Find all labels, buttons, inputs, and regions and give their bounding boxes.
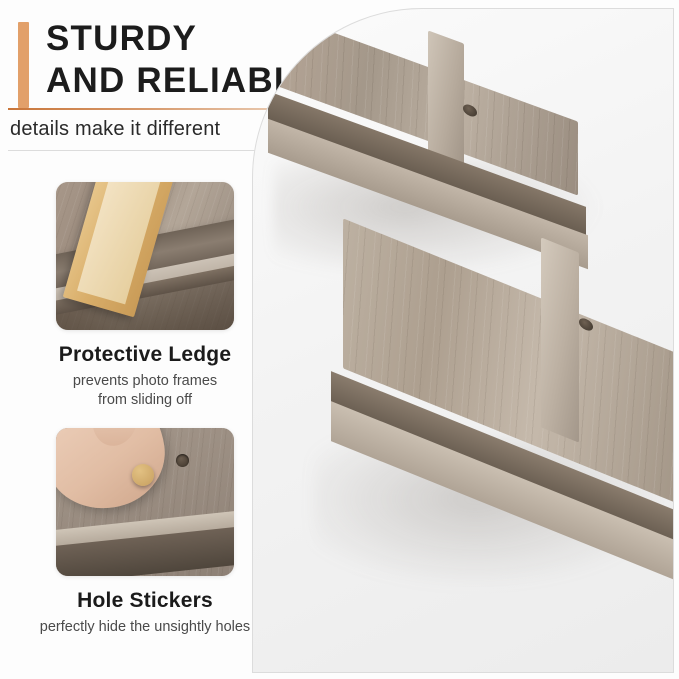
finger: [87, 428, 145, 451]
hole-sticker: [132, 464, 154, 486]
feature-1-subtitle: prevents photo frames from sliding off: [25, 372, 265, 410]
accent-bar: [18, 22, 29, 108]
feature-1-image: [56, 182, 234, 330]
shelf-lower: [313, 257, 674, 657]
feature-2-subtitle-line-1: perfectly hide the unsightly holes: [25, 618, 265, 637]
feature-hole-stickers: Hole Stickers perfectly hide the unsight…: [25, 428, 265, 637]
feature-1-subtitle-line-2: from sliding off: [25, 391, 265, 410]
feature-1-subtitle-line-1: prevents photo frames: [25, 372, 265, 391]
feature-1-title: Protective Ledge: [25, 343, 265, 367]
feature-2-subtitle: perfectly hide the unsightly holes: [25, 618, 265, 637]
screw-hole: [176, 454, 189, 467]
subheading-divider: [8, 150, 258, 151]
hero-scene: [253, 9, 673, 672]
feature-2-title: Hole Stickers: [25, 589, 265, 613]
feature-protective-ledge: Protective Ledge prevents photo frames f…: [25, 182, 265, 410]
feature-2-image: [56, 428, 234, 576]
shelf-lower-ledge: [541, 237, 579, 442]
product-infographic: STURDY AND RELIABLE details make it diff…: [0, 0, 679, 679]
subheading: details make it different: [10, 118, 220, 141]
hero-product-image: [252, 8, 674, 673]
